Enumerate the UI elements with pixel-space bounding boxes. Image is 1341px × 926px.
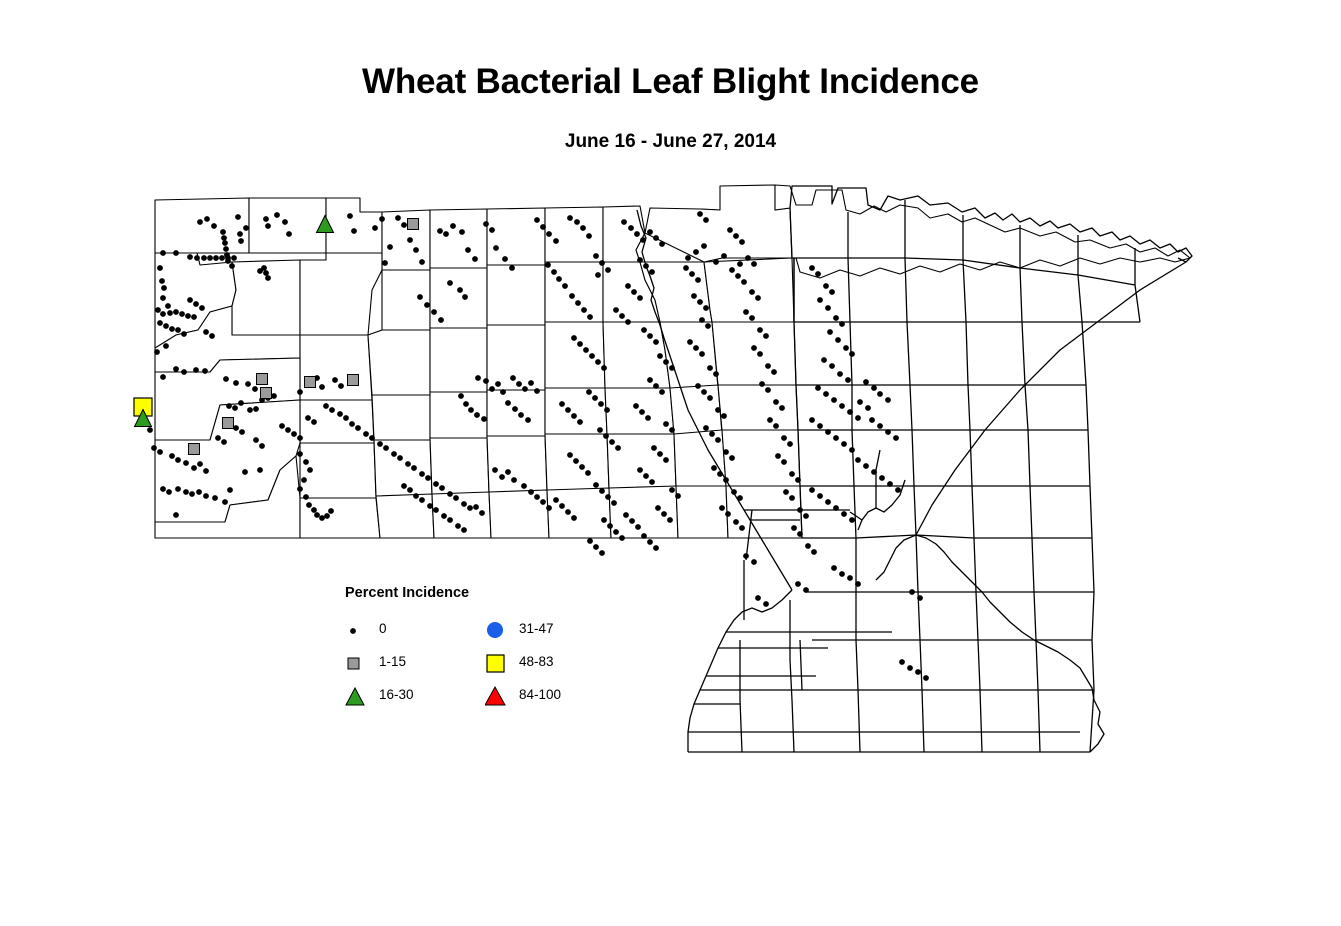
map-marker — [917, 595, 923, 601]
map-marker — [637, 295, 643, 301]
map-marker — [306, 502, 312, 508]
map-marker — [703, 425, 709, 431]
map-marker — [197, 219, 203, 225]
map-marker — [721, 253, 727, 259]
map-marker — [707, 395, 713, 401]
map-marker — [424, 302, 430, 308]
map-marker — [540, 224, 546, 230]
map-marker — [863, 379, 869, 385]
map-marker — [835, 337, 841, 343]
map-marker — [640, 237, 646, 243]
map-marker — [243, 225, 249, 231]
map-marker — [823, 391, 829, 397]
map-marker — [297, 389, 303, 395]
map-marker — [329, 407, 335, 413]
map-marker — [653, 383, 659, 389]
map-marker — [595, 359, 601, 365]
map-marker — [669, 365, 675, 371]
map-marker — [297, 451, 303, 457]
map-marker — [347, 213, 353, 219]
map-marker — [201, 255, 207, 261]
map-marker — [160, 295, 166, 301]
map-marker — [505, 400, 511, 406]
map-marker — [211, 223, 217, 229]
map-marker — [534, 217, 540, 223]
map-marker — [597, 427, 603, 433]
map-marker — [209, 333, 215, 339]
map-marker — [433, 507, 439, 513]
map-marker — [363, 431, 369, 437]
map-marker — [741, 279, 747, 285]
map-marker — [479, 510, 485, 516]
map-marker — [567, 215, 573, 221]
map-marker — [173, 250, 179, 256]
map-marker — [661, 511, 667, 517]
map-marker — [787, 441, 793, 447]
map-marker — [757, 327, 763, 333]
map-marker — [253, 406, 259, 412]
map-marker — [505, 469, 511, 475]
map-marker — [653, 545, 659, 551]
map-marker — [651, 445, 657, 451]
map-marker — [151, 445, 157, 451]
map-marker — [461, 527, 467, 533]
map-marker — [245, 381, 251, 387]
map-marker — [237, 231, 243, 237]
map-marker — [605, 267, 611, 273]
map-marker — [307, 467, 313, 473]
map-marker — [775, 453, 781, 459]
map-marker — [745, 255, 751, 261]
legend-item-label: 48-83 — [519, 654, 554, 669]
map-marker — [727, 227, 733, 233]
map-marker — [351, 228, 357, 234]
map-marker — [222, 240, 228, 246]
map-marker — [737, 261, 743, 267]
map-marker — [667, 517, 673, 523]
map-marker — [817, 493, 823, 499]
map-marker — [619, 535, 625, 541]
map-marker — [473, 504, 479, 510]
map-marker — [437, 228, 443, 234]
map-marker — [715, 437, 721, 443]
map-marker — [379, 216, 385, 222]
map-marker — [583, 347, 589, 353]
map-marker — [516, 381, 522, 387]
map-marker — [599, 488, 605, 494]
map-marker — [297, 486, 303, 492]
map-marker — [604, 407, 610, 413]
map-marker — [847, 575, 853, 581]
map-marker — [637, 467, 643, 473]
map-marker — [203, 468, 209, 474]
map-marker — [601, 365, 607, 371]
states-counties-map — [0, 0, 1341, 926]
map-marker — [417, 294, 423, 300]
map-marker — [319, 515, 325, 521]
gray-square-icon — [345, 651, 371, 675]
map-marker — [191, 465, 197, 471]
map-marker — [749, 315, 755, 321]
map-marker — [598, 401, 604, 407]
map-marker — [348, 375, 359, 386]
map-marker — [525, 417, 531, 423]
map-marker — [571, 413, 577, 419]
map-marker — [431, 309, 437, 315]
map-marker — [413, 493, 419, 499]
map-marker — [196, 489, 202, 495]
map-marker — [657, 451, 663, 457]
map-marker — [382, 260, 388, 266]
map-marker — [495, 381, 501, 387]
map-marker — [223, 246, 229, 252]
red-triangle-icon — [485, 684, 511, 708]
map-marker — [857, 399, 863, 405]
map-marker — [586, 389, 592, 395]
map-marker — [212, 495, 218, 501]
map-marker — [301, 477, 307, 483]
map-marker — [474, 412, 480, 418]
map-marker — [285, 427, 291, 433]
legend-item-label: 31-47 — [519, 621, 554, 636]
map-marker — [635, 524, 641, 530]
map-marker — [645, 415, 651, 421]
map-marker — [723, 477, 729, 483]
map-marker — [823, 283, 829, 289]
map-marker — [647, 333, 653, 339]
map-marker — [885, 429, 891, 435]
map-marker — [797, 531, 803, 537]
map-marker — [811, 549, 817, 555]
map-marker — [489, 227, 495, 233]
map-marker — [225, 255, 231, 261]
map-marker — [601, 517, 607, 523]
map-marker — [207, 255, 213, 261]
map-marker — [427, 503, 433, 509]
map-marker — [185, 313, 191, 319]
map-marker — [797, 507, 803, 513]
map-marker — [261, 388, 272, 399]
map-marker — [447, 491, 453, 497]
map-marker — [303, 494, 309, 500]
map-marker — [839, 571, 845, 577]
map-marker — [571, 335, 577, 341]
map-marker — [257, 374, 268, 385]
map-marker — [263, 216, 269, 222]
map-marker — [907, 665, 913, 671]
map-marker — [759, 381, 765, 387]
map-marker — [887, 481, 893, 487]
map-marker — [649, 479, 655, 485]
map-marker — [923, 675, 929, 681]
map-marker — [297, 435, 303, 441]
map-marker — [767, 417, 773, 423]
map-marker — [841, 511, 847, 517]
map-marker — [751, 559, 757, 565]
map-marker — [147, 427, 153, 433]
map-marker — [223, 418, 234, 429]
map-marker — [707, 365, 713, 371]
map-marker — [443, 231, 449, 237]
map-marker — [657, 353, 663, 359]
map-marker — [160, 486, 166, 492]
map-marker — [215, 435, 221, 441]
map-marker — [461, 501, 467, 507]
map-marker — [595, 272, 601, 278]
map-marker — [599, 550, 605, 556]
map-marker — [160, 250, 166, 256]
map-marker — [641, 327, 647, 333]
map-marker — [155, 307, 161, 313]
map-marker — [175, 327, 181, 333]
map-marker — [849, 517, 855, 523]
map-marker — [701, 389, 707, 395]
map-marker — [871, 469, 877, 475]
map-marker — [447, 280, 453, 286]
map-marker — [238, 400, 244, 406]
map-marker — [453, 495, 459, 501]
map-marker — [763, 601, 769, 607]
map-page: Wheat Bacterial Leaf Blight Incidence Ju… — [0, 0, 1341, 926]
map-marker — [468, 407, 474, 413]
map-marker — [587, 314, 593, 320]
map-marker — [439, 485, 445, 491]
map-marker — [659, 241, 665, 247]
map-marker — [160, 311, 166, 317]
map-marker — [809, 265, 815, 271]
map-marker — [855, 457, 861, 463]
map-marker — [522, 386, 528, 392]
map-marker — [743, 553, 749, 559]
map-marker — [481, 416, 487, 422]
map-marker — [571, 515, 577, 521]
map-marker — [502, 256, 508, 262]
map-marker — [577, 419, 583, 425]
map-marker — [713, 371, 719, 377]
map-marker — [825, 499, 831, 505]
map-marker — [580, 225, 586, 231]
map-marker — [387, 244, 393, 250]
map-marker — [669, 487, 675, 493]
map-marker — [220, 229, 226, 235]
map-marker — [833, 435, 839, 441]
map-marker — [743, 309, 749, 315]
map-marker — [191, 314, 197, 320]
map-marker — [751, 261, 757, 267]
map-marker — [551, 269, 557, 275]
map-marker — [839, 321, 845, 327]
map-marker — [419, 259, 425, 265]
map-marker — [204, 216, 210, 222]
map-marker — [585, 470, 591, 476]
map-marker — [893, 435, 899, 441]
map-marker — [877, 423, 883, 429]
map-marker — [328, 508, 334, 514]
map-marker — [705, 323, 711, 329]
map-marker — [483, 221, 489, 227]
map-marker — [879, 475, 885, 481]
map-marker — [291, 431, 297, 437]
map-marker — [163, 323, 169, 329]
map-marker — [599, 260, 605, 266]
map-marker — [815, 385, 821, 391]
map-marker — [493, 245, 499, 251]
map-marker — [701, 243, 707, 249]
map-marker — [565, 509, 571, 515]
map-marker — [593, 544, 599, 550]
map-marker — [615, 445, 621, 451]
map-marker — [512, 406, 518, 412]
map-marker — [311, 507, 317, 513]
map-marker — [509, 265, 515, 271]
map-marker — [675, 493, 681, 499]
map-marker — [821, 357, 827, 363]
map-marker — [833, 315, 839, 321]
map-marker — [693, 345, 699, 351]
map-marker — [899, 659, 905, 665]
map-marker — [458, 393, 464, 399]
map-marker — [305, 415, 311, 421]
map-marker — [765, 387, 771, 393]
map-marker — [593, 253, 599, 259]
map-marker — [165, 303, 171, 309]
map-marker — [841, 441, 847, 447]
map-marker — [169, 453, 175, 459]
map-marker — [685, 255, 691, 261]
map-marker — [609, 439, 615, 445]
map-marker — [803, 587, 809, 593]
map-marker — [729, 267, 735, 273]
map-marker — [607, 523, 613, 529]
map-marker — [534, 494, 540, 500]
map-marker — [383, 445, 389, 451]
blue-circle-icon — [485, 618, 511, 642]
map-marker — [274, 212, 280, 218]
map-marker — [649, 269, 655, 275]
map-marker — [183, 489, 189, 495]
map-marker — [593, 482, 599, 488]
map-marker — [169, 326, 175, 332]
map-marker — [161, 285, 167, 291]
map-marker — [265, 223, 271, 229]
map-marker — [265, 275, 271, 281]
map-marker — [721, 413, 727, 419]
map-marker — [157, 320, 163, 326]
map-marker — [157, 449, 163, 455]
map-marker — [160, 374, 166, 380]
map-marker — [623, 512, 629, 518]
map-marker — [573, 458, 579, 464]
map-marker — [817, 297, 823, 303]
map-marker — [625, 283, 631, 289]
map-marker — [187, 297, 193, 303]
map-marker — [231, 255, 237, 261]
map-marker — [717, 471, 723, 477]
map-marker — [825, 429, 831, 435]
map-marker — [699, 351, 705, 357]
map-marker — [235, 214, 241, 220]
map-marker — [559, 503, 565, 509]
map-marker — [663, 457, 669, 463]
map-marker — [223, 376, 229, 382]
map-marker — [546, 231, 552, 237]
map-marker — [411, 465, 417, 471]
map-marker — [377, 441, 383, 447]
map-marker — [909, 589, 915, 595]
map-marker — [534, 388, 540, 394]
map-marker — [779, 405, 785, 411]
map-marker — [849, 351, 855, 357]
map-marker — [631, 289, 637, 295]
map-marker — [311, 419, 317, 425]
map-marker — [213, 255, 219, 261]
map-marker — [247, 407, 253, 413]
map-marker — [737, 495, 743, 501]
map-marker — [166, 489, 172, 495]
map-marker — [253, 437, 259, 443]
map-marker — [173, 512, 179, 518]
map-marker — [825, 305, 831, 311]
map-marker — [221, 439, 227, 445]
map-marker — [577, 341, 583, 347]
map-marker — [791, 525, 797, 531]
map-marker — [613, 529, 619, 535]
map-marker — [739, 239, 745, 245]
map-marker — [405, 461, 411, 467]
map-marker — [528, 489, 534, 495]
map-marker — [546, 505, 552, 511]
map-marker — [713, 259, 719, 265]
map-marker — [232, 405, 238, 411]
map-marker — [203, 493, 209, 499]
map-marker — [467, 505, 473, 511]
map-marker — [181, 331, 187, 337]
map-marker — [703, 217, 709, 223]
map-marker — [221, 235, 227, 241]
map-marker — [459, 229, 465, 235]
map-marker — [731, 489, 737, 495]
map-marker — [647, 377, 653, 383]
map-marker — [500, 389, 506, 395]
map-marker — [556, 276, 562, 282]
map-marker — [337, 411, 343, 417]
map-marker — [263, 270, 269, 276]
map-marker — [643, 473, 649, 479]
map-marker — [895, 487, 901, 493]
map-marker — [181, 369, 187, 375]
map-marker — [837, 371, 843, 377]
map-marker — [659, 389, 665, 395]
map-marker — [189, 444, 200, 455]
map-marker — [809, 487, 815, 493]
map-marker — [689, 271, 695, 277]
map-marker — [765, 363, 771, 369]
map-marker — [279, 423, 285, 429]
map-marker — [303, 459, 309, 465]
map-marker — [510, 375, 516, 381]
map-marker — [581, 307, 587, 313]
map-marker — [628, 225, 634, 231]
map-marker — [733, 233, 739, 239]
map-marker — [843, 345, 849, 351]
map-marker — [229, 263, 235, 269]
map-marker — [586, 233, 592, 239]
map-marker — [472, 256, 478, 262]
map-marker — [849, 447, 855, 453]
map-marker — [683, 265, 689, 271]
map-marker — [885, 397, 891, 403]
map-marker — [259, 443, 265, 449]
